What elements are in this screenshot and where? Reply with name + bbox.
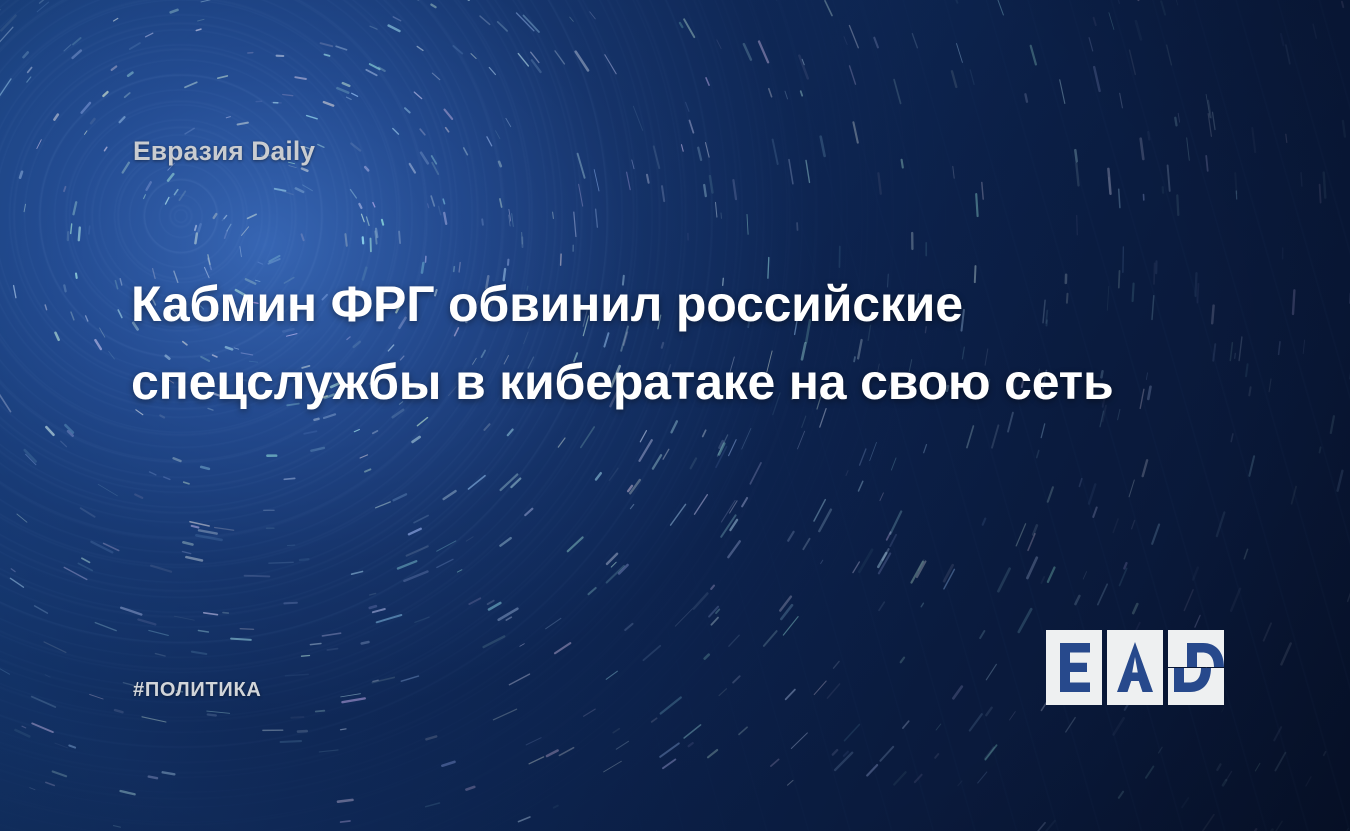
topic-tag: #ПОЛИТИКА (133, 679, 262, 702)
logo-tile-e (1046, 630, 1102, 705)
logo-tile-a (1107, 630, 1163, 705)
logo-d-bottom-half (1168, 668, 1224, 705)
logo-tile-d-split (1168, 630, 1224, 705)
ead-logo[interactable] (1046, 630, 1224, 705)
brand-name: Евразия Daily (133, 136, 315, 167)
logo-d-top-half (1168, 630, 1224, 667)
card-content: Евразия Daily Кабмин ФРГ обвинил российс… (0, 0, 1350, 831)
news-share-card: Евразия Daily Кабмин ФРГ обвинил российс… (0, 0, 1350, 831)
headline: Кабмин ФРГ обвинил российские спецслужбы… (131, 265, 1221, 421)
